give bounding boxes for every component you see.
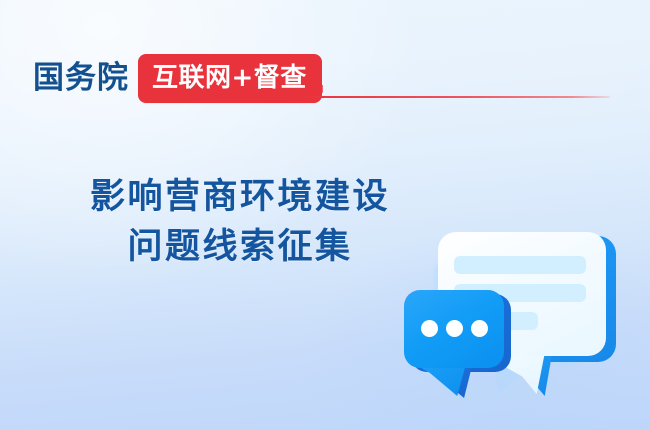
message-bubble-small-icon — [404, 290, 512, 388]
typing-dot-3-icon — [471, 320, 488, 337]
typing-dot-1-icon — [421, 320, 438, 337]
banner-header: 国务院 互联网+督查 — [33, 55, 322, 101]
header-divider-rule — [292, 96, 610, 98]
gov-council-label: 国务院 — [33, 63, 129, 94]
bubble-text-line-1 — [454, 256, 586, 274]
chat-bubbles-illustration — [398, 214, 638, 414]
gov-campaign-banner: 国务院 互联网+督查 影响营商环境建设 问题线索征集 — [0, 0, 650, 430]
typing-dot-2-icon — [446, 320, 463, 337]
bubble-small-face — [404, 290, 504, 368]
internet-supervision-badge-wrap: 互联网+督查 — [138, 65, 322, 91]
